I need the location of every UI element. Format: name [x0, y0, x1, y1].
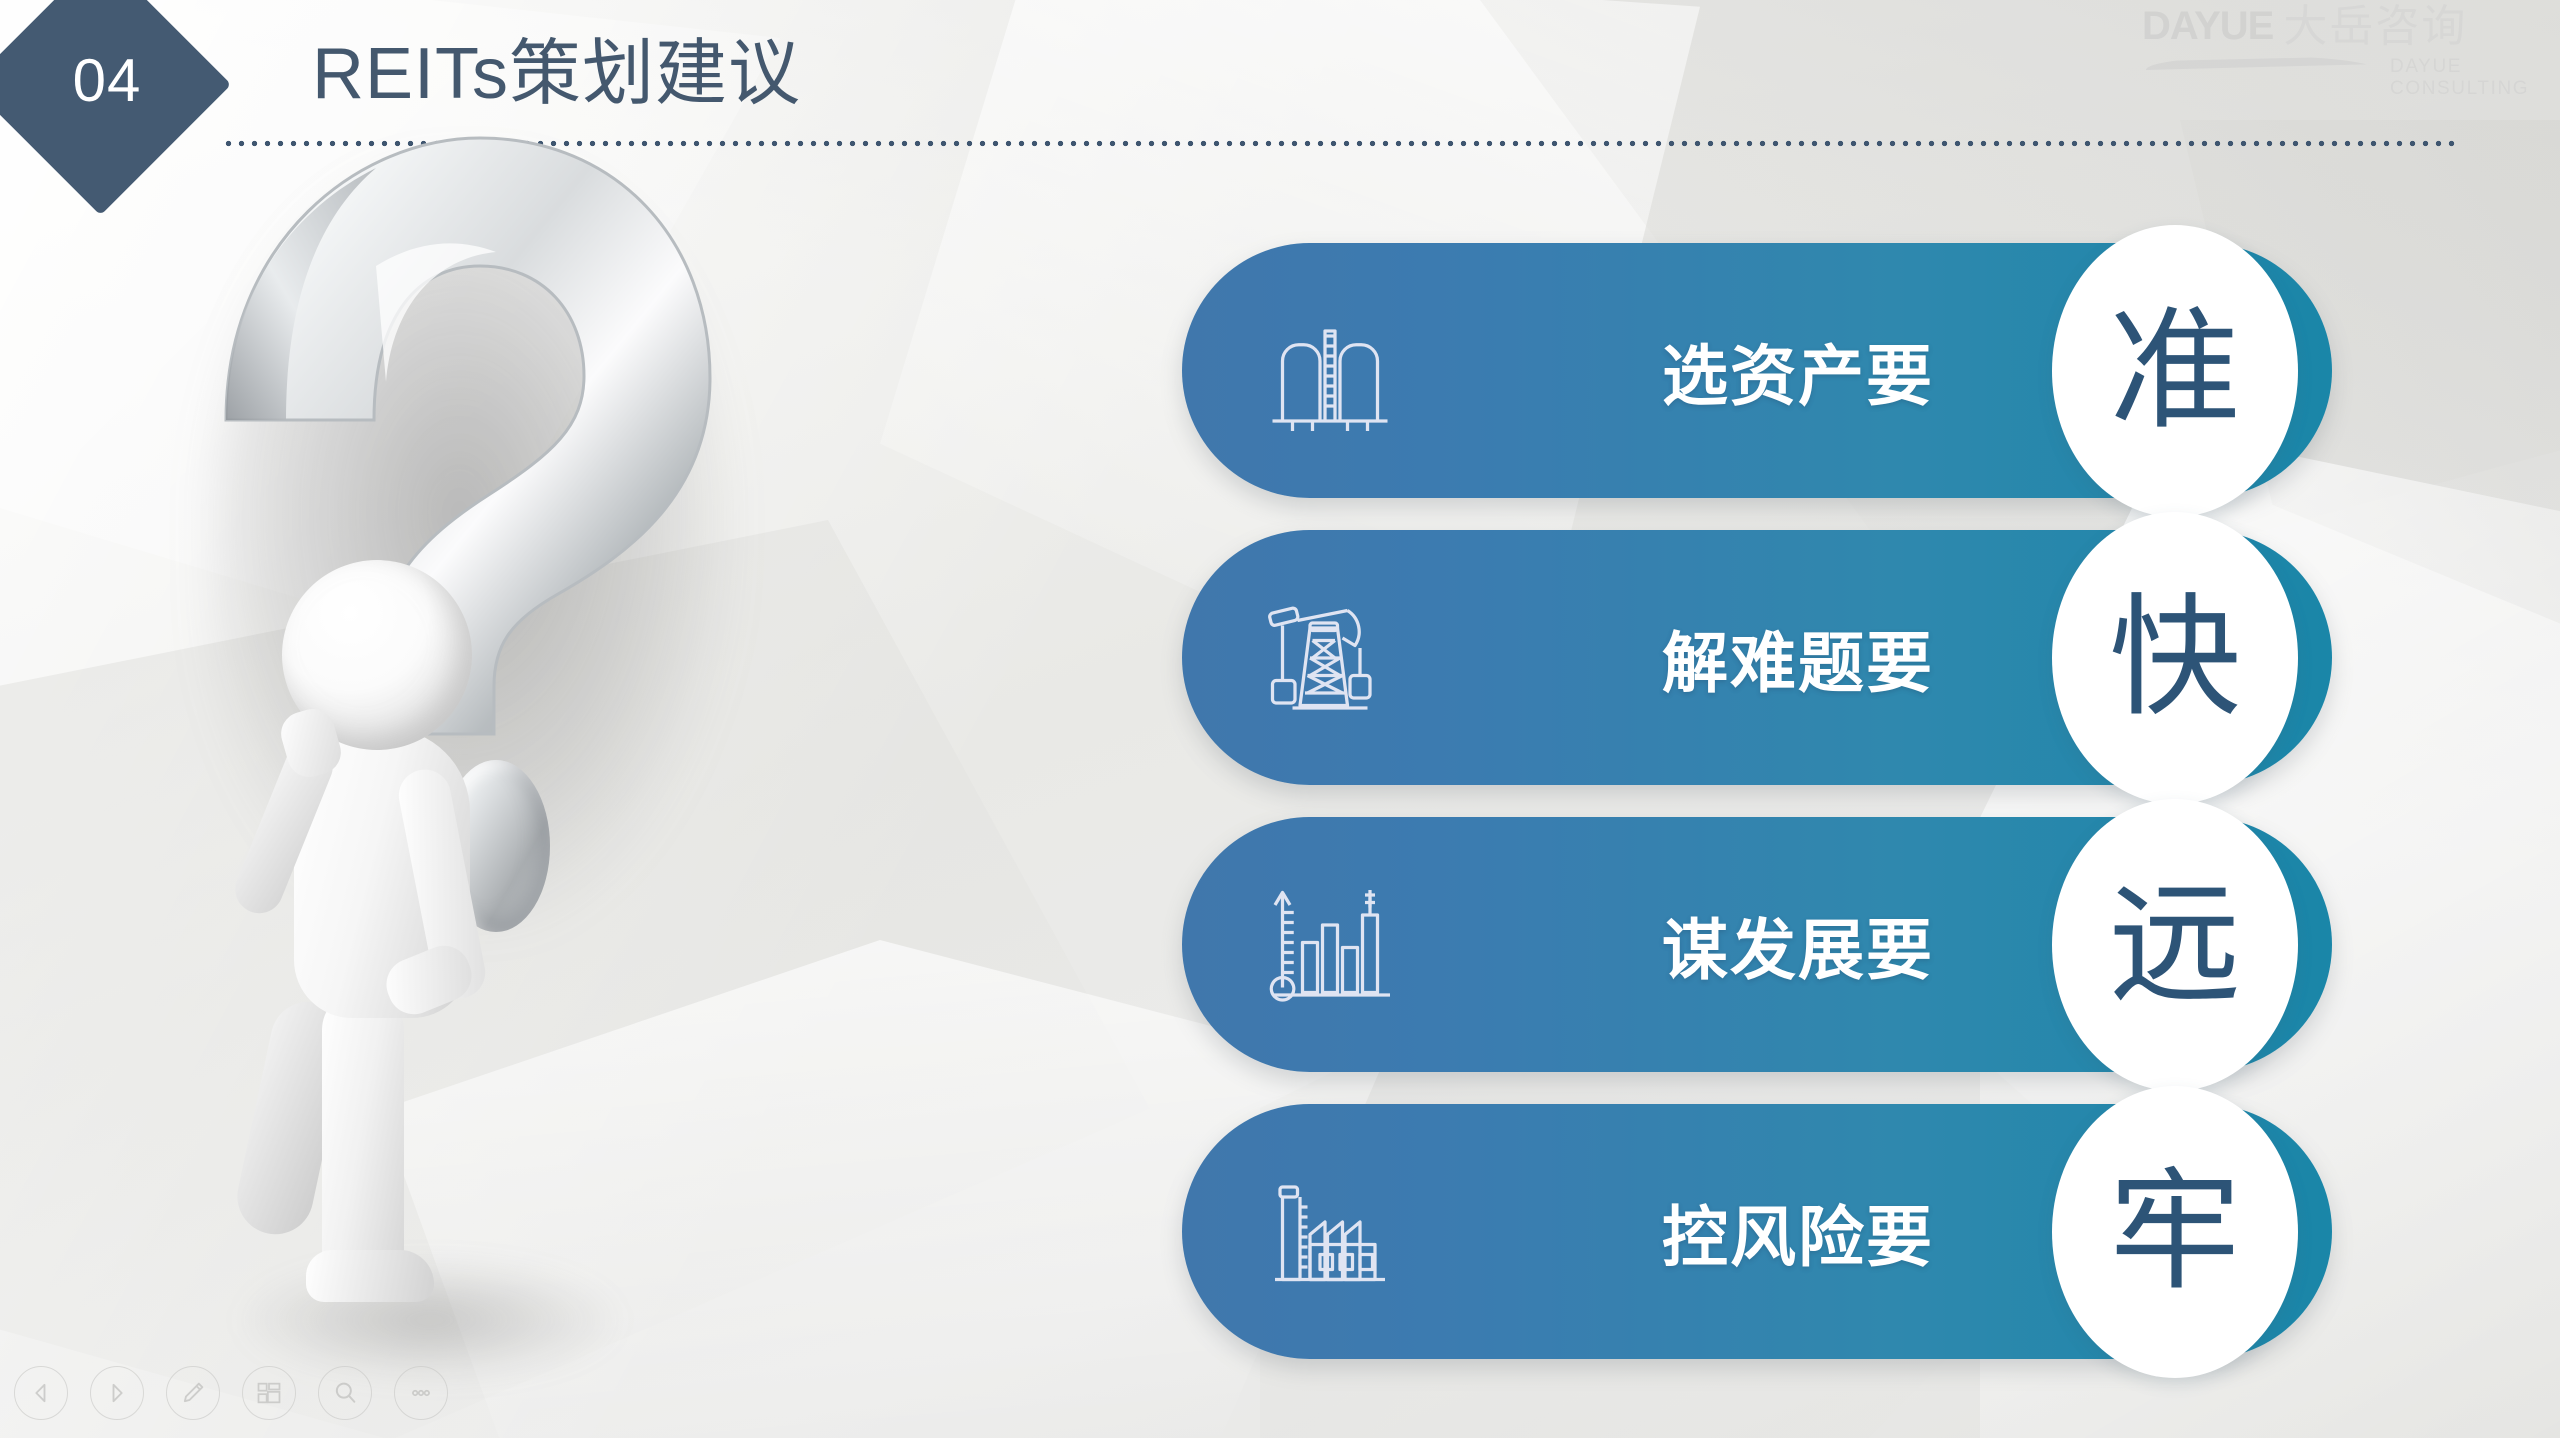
logo-tagline: DAYUE CONSULTING [2390, 56, 2542, 100]
list-item[interactable]: 选资产要 准 [1182, 243, 2332, 498]
next-slide-icon[interactable] [90, 1366, 144, 1420]
keyword-char: 远 [2109, 879, 2241, 1011]
list-item[interactable]: 解难题要 快 [1182, 530, 2332, 785]
logo-swoosh-icon [2146, 56, 2376, 70]
page-title: REITs策划建议 [312, 14, 801, 119]
company-logo: DAYUE 大岳咨询 DAYUE CONSULTING [2142, 4, 2542, 86]
list-item-label: 谋发展要 [1662, 817, 1934, 1072]
keyword-badge: 牢 [2052, 1086, 2298, 1378]
keyword-char: 牢 [2109, 1166, 2241, 1298]
presentation-toolbar [14, 1358, 448, 1428]
keyword-badge: 远 [2052, 799, 2298, 1091]
logo-brand-cn: 大岳咨询 [2283, 4, 2467, 50]
list-item: 谋发展要 远 [1182, 817, 2332, 1072]
more-options-icon[interactable] [394, 1366, 448, 1420]
factory-plant-icon [1252, 1154, 1408, 1310]
presentation-slide: 04 REITs策划建议 DAYUE 大岳咨询 DAYUE CONSULTING [0, 0, 2560, 1438]
hero-illustration [150, 110, 850, 1370]
list-item[interactable]: 控风险要 牢 [1182, 1104, 2332, 1359]
keyword-char: 准 [2109, 305, 2241, 437]
recommendation-list: 选资产要 准 [1182, 243, 2408, 1359]
storage-tank-icon [1252, 293, 1408, 449]
list-item-label: 解难题要 [1662, 530, 1934, 785]
keyword-char: 快 [2109, 592, 2241, 724]
growth-bar-chart-icon [1252, 867, 1408, 1023]
keyword-badge: 快 [2052, 512, 2298, 804]
magnifier-zoom-icon[interactable] [318, 1366, 372, 1420]
oil-pumpjack-icon [1252, 580, 1408, 736]
previous-slide-icon[interactable] [14, 1366, 68, 1420]
thinking-figure-3d [210, 560, 570, 1300]
slide-grid-icon[interactable] [242, 1366, 296, 1420]
list-item-label: 选资产要 [1662, 243, 1934, 498]
logo-brand-en: DAYUE [2142, 4, 2273, 48]
list-item-label: 控风险要 [1662, 1104, 1934, 1359]
keyword-badge: 准 [2052, 225, 2298, 517]
pen-annotate-icon[interactable] [166, 1366, 220, 1420]
